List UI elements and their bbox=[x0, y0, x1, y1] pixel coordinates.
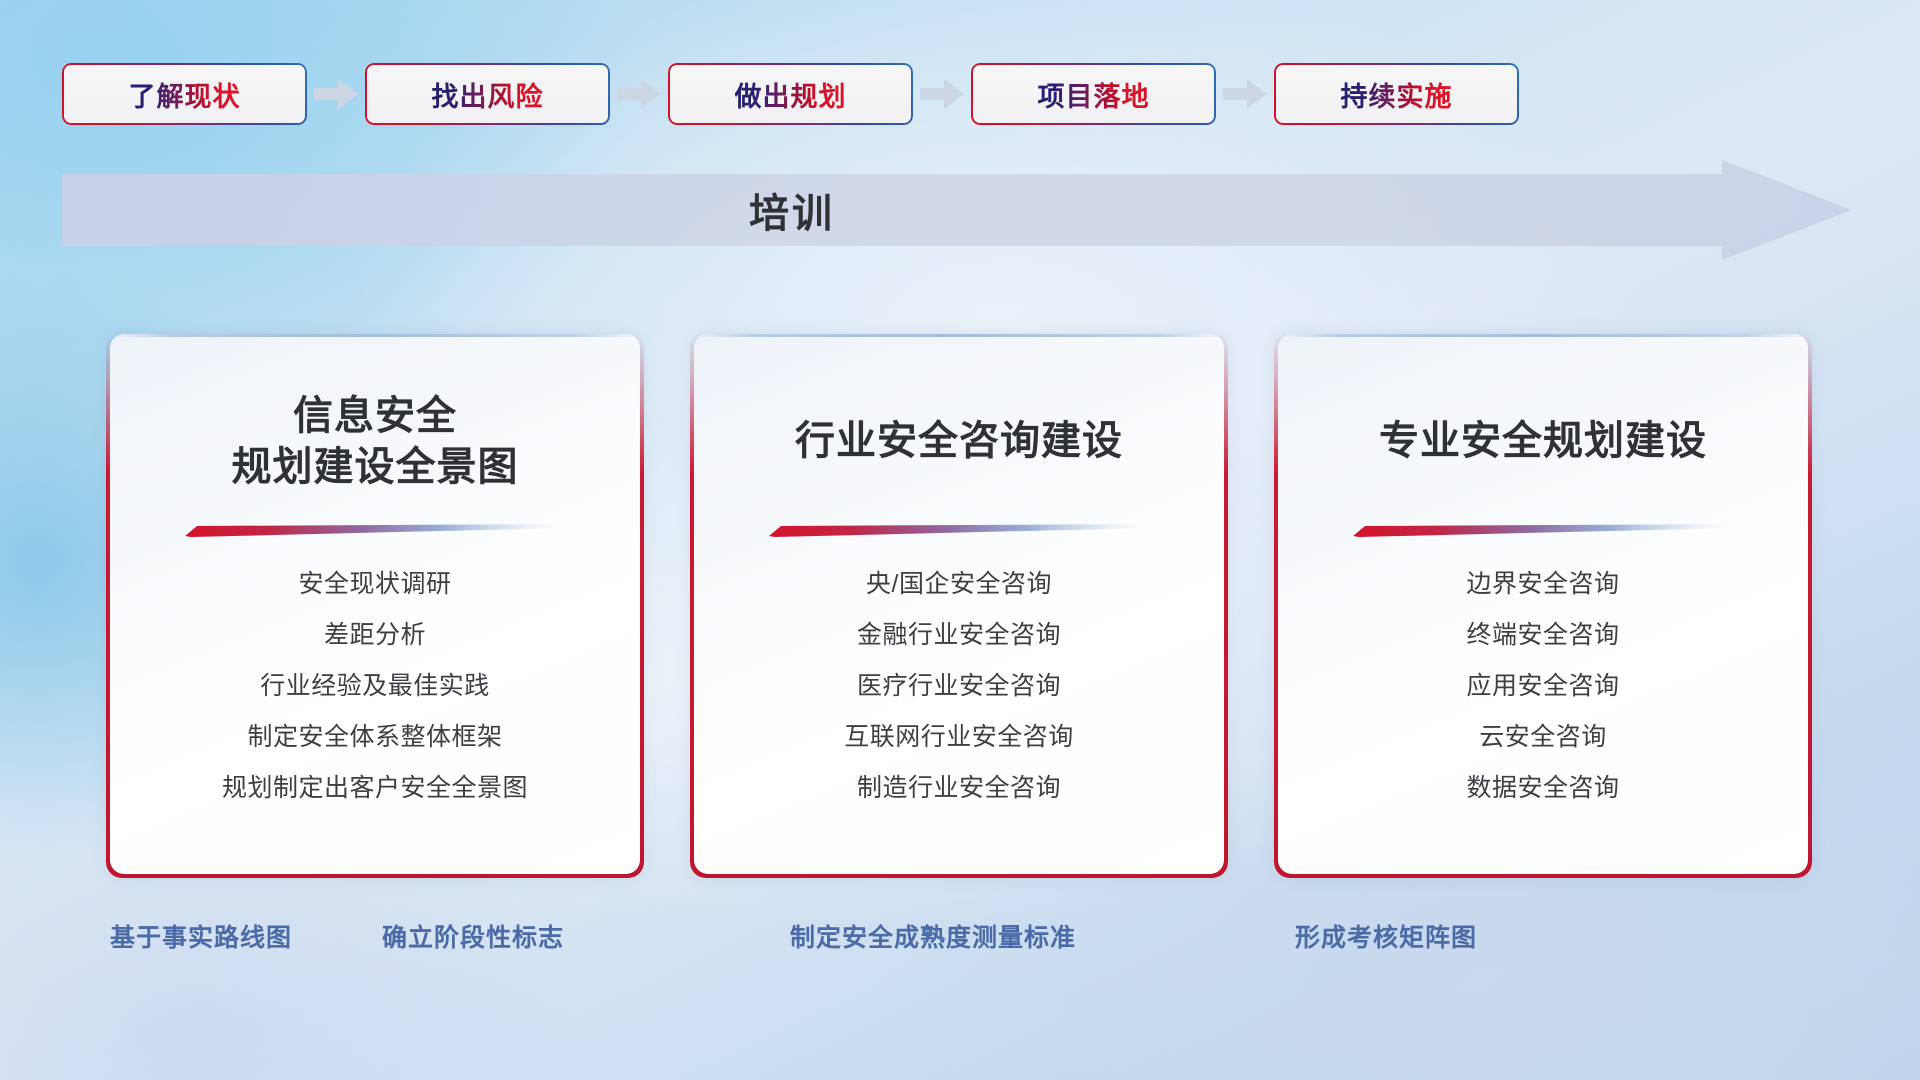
card-list-item[interactable]: 应用安全咨询 bbox=[1466, 661, 1619, 712]
card-list-item[interactable]: 医疗行业安全咨询 bbox=[857, 661, 1061, 712]
process-step-label: 项目落地 bbox=[1038, 75, 1150, 114]
card-title-line: 信息安全 bbox=[232, 391, 519, 442]
process-step-label: 找出风险 bbox=[432, 75, 544, 114]
footer-label-1: 基于事实路线图 bbox=[110, 918, 292, 954]
card-list-item[interactable]: 数据安全咨询 bbox=[1466, 763, 1619, 814]
consulting-card-row: 信息安全 规划建设全景图 bbox=[0, 334, 1920, 874]
process-step-2[interactable]: 找出风险 bbox=[365, 63, 610, 125]
arrow-right-icon bbox=[1216, 63, 1274, 125]
card-list-item[interactable]: 安全现状调研 bbox=[298, 559, 451, 610]
process-step-5[interactable]: 持续实施 bbox=[1274, 63, 1519, 125]
process-step-3[interactable]: 做出规划 bbox=[668, 63, 913, 125]
card-item-list: 边界安全咨询 终端安全咨询 应用安全咨询 云安全咨询 数据安全咨询 bbox=[1306, 559, 1780, 814]
card-list-item[interactable]: 制定安全体系整体框架 bbox=[247, 712, 502, 763]
card-list-item[interactable]: 制造行业安全咨询 bbox=[857, 763, 1061, 814]
card-list-item[interactable]: 互联网行业安全咨询 bbox=[844, 712, 1074, 763]
card-list-item[interactable]: 规划制定出客户安全全景图 bbox=[222, 763, 528, 814]
card-list-item[interactable]: 行业经验及最佳实践 bbox=[260, 661, 490, 712]
card-title-line: 行业安全咨询建设 bbox=[795, 416, 1123, 467]
footer-label-row: 基于事实路线图 确立阶段性标志 制定安全成熟度测量标准 形成考核矩阵图 bbox=[0, 918, 1920, 968]
card-list-item[interactable]: 金融行业安全咨询 bbox=[857, 610, 1061, 661]
card-divider bbox=[769, 524, 1149, 537]
card-list-item[interactable]: 云安全咨询 bbox=[1479, 712, 1607, 763]
card-title-line: 专业安全规划建设 bbox=[1379, 416, 1707, 467]
arrow-right-icon bbox=[913, 63, 971, 125]
consulting-card-2[interactable]: 行业安全咨询建设 bbox=[694, 334, 1224, 874]
consulting-card-3[interactable]: 专业安全规划建设 bbox=[1278, 334, 1808, 874]
card-list-item[interactable]: 边界安全咨询 bbox=[1466, 559, 1619, 610]
arrow-right-icon bbox=[610, 63, 668, 125]
banner-title: 培训 bbox=[62, 160, 1522, 260]
training-banner: 培训 bbox=[62, 160, 1852, 260]
consulting-card-1[interactable]: 信息安全 规划建设全景图 bbox=[110, 334, 640, 874]
card-item-list: 安全现状调研 差距分析 行业经验及最佳实践 制定安全体系整体框架 规划制定出客户… bbox=[138, 559, 612, 814]
card-list-item[interactable]: 差距分析 bbox=[324, 610, 426, 661]
card-divider bbox=[1353, 524, 1733, 537]
card-title: 信息安全 规划建设全景图 bbox=[232, 376, 519, 508]
card-title: 行业安全咨询建设 bbox=[795, 376, 1123, 508]
footer-label-3: 制定安全成熟度测量标准 bbox=[790, 918, 1076, 954]
card-divider bbox=[185, 524, 565, 537]
card-title: 专业安全规划建设 bbox=[1379, 376, 1707, 508]
process-step-label: 做出规划 bbox=[735, 75, 847, 114]
process-step-1[interactable]: 了解现状 bbox=[62, 63, 307, 125]
process-step-label: 持续实施 bbox=[1341, 75, 1453, 114]
card-list-item[interactable]: 终端安全咨询 bbox=[1466, 610, 1619, 661]
process-step-label: 了解现状 bbox=[129, 75, 241, 114]
process-step-flow: 了解现状 找出风险 做出规划 项目落地 持续实施 bbox=[0, 62, 1920, 126]
process-step-4[interactable]: 项目落地 bbox=[971, 63, 1216, 125]
card-list-item[interactable]: 央/国企安全咨询 bbox=[866, 559, 1052, 610]
footer-label-4: 形成考核矩阵图 bbox=[1295, 918, 1477, 954]
arrow-right-icon bbox=[307, 63, 365, 125]
card-title-line: 规划建设全景图 bbox=[232, 442, 519, 493]
footer-label-2: 确立阶段性标志 bbox=[382, 918, 564, 954]
card-item-list: 央/国企安全咨询 金融行业安全咨询 医疗行业安全咨询 互联网行业安全咨询 制造行… bbox=[722, 559, 1196, 814]
